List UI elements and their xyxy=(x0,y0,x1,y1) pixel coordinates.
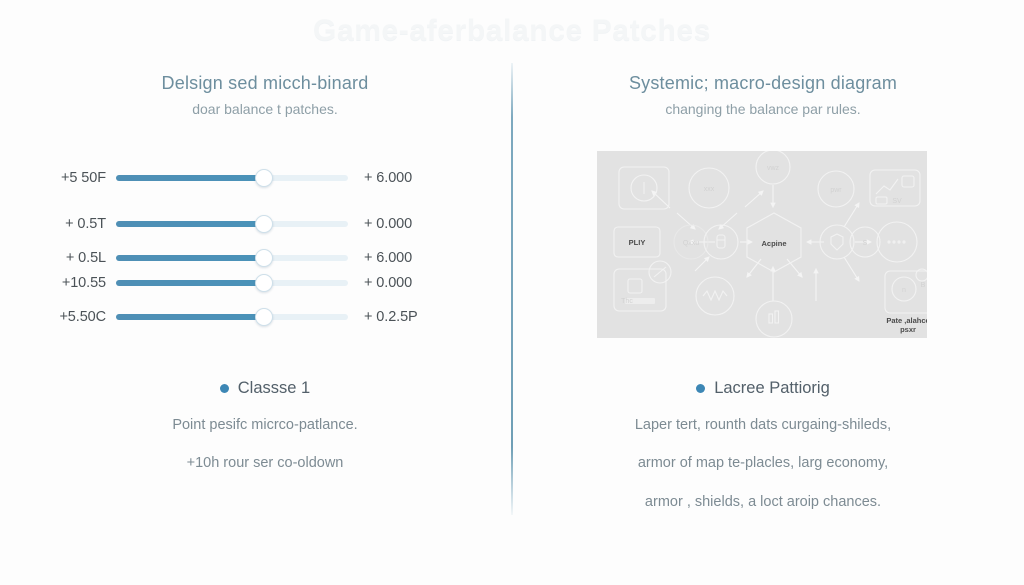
slider-fill xyxy=(116,314,264,320)
right-column-subheading: changing the balance par rules. xyxy=(524,101,1002,117)
slider-label: +5 50F xyxy=(30,170,116,186)
left-column-heading: Delsign sed micch-binard xyxy=(30,73,500,94)
slider-thumb[interactable] xyxy=(255,215,273,233)
slider-label: +5.50C xyxy=(30,309,116,325)
wave-circle-node[interactable] xyxy=(696,277,734,315)
top-circle-node[interactable]: xxx xyxy=(689,168,729,208)
power-icon-node[interactable] xyxy=(619,167,669,209)
right-bullet-line: armor of map te-placles, larg economy, xyxy=(524,452,1002,474)
slider-row[interactable]: +10.55 + 0.000 xyxy=(30,273,500,293)
svg-text:Qxxu: Qxxu xyxy=(683,240,699,247)
svg-text:vwz: vwz xyxy=(767,165,780,172)
center-hexagon-node[interactable]: Acpine xyxy=(747,213,801,272)
svg-text:B: B xyxy=(921,282,926,289)
shield-circle-node[interactable] xyxy=(820,225,854,259)
svg-text:xxx: xxx xyxy=(704,186,715,193)
patch-balance-card-label-line1: Pate ,alahcc xyxy=(886,316,927,325)
slider-fill xyxy=(116,221,264,227)
svg-text:Thc: Thc xyxy=(621,298,633,305)
chart-circle-node[interactable] xyxy=(756,301,792,337)
stats-card-node[interactable]: SV xyxy=(870,170,920,206)
right-bullet-block: Lacree Pattiorig Laper tert, rounth dats… xyxy=(524,379,1002,513)
left-bullet-block: Classse 1 Point pesifc micrco-patlance. … xyxy=(30,379,500,475)
slider-thumb[interactable] xyxy=(255,169,273,187)
slider-list: +5 50F + 6.000 + 0.5T + 0.000 + 0.5L xyxy=(30,168,500,327)
slider-row[interactable]: +5.50C + 0.2.5P xyxy=(30,307,500,327)
left-column-subheading: doar balance t patches. xyxy=(30,101,500,117)
slider-row[interactable]: +5 50F + 6.000 xyxy=(30,168,500,188)
patch-balance-card-label-line2: psxr xyxy=(900,325,916,334)
bullet-dot-icon xyxy=(220,384,229,393)
slider-track-wrap[interactable] xyxy=(116,308,348,326)
right-top-circle-node[interactable]: pwr xyxy=(818,171,854,207)
slider-track-wrap[interactable] xyxy=(116,169,348,187)
left-column: Delsign sed micch-binard doar balance t … xyxy=(30,0,500,585)
slider-thumb[interactable] xyxy=(255,274,273,292)
right-column: Systemic; macro-design diagram changing … xyxy=(524,0,1002,585)
right-bullet-title-text: Lacree Pattiorig xyxy=(714,379,830,398)
left-bullet-line: Point pesifc micrco-patlance. xyxy=(30,414,500,436)
left-bullet-title-text: Classse 1 xyxy=(238,379,310,398)
left-bullet-title: Classse 1 xyxy=(220,379,310,398)
slider-label: +10.55 xyxy=(30,275,116,291)
column-divider xyxy=(511,63,513,515)
slider-value: + 0.000 xyxy=(348,275,450,291)
slider-track-wrap[interactable] xyxy=(116,215,348,233)
slider-value: + 0.000 xyxy=(348,216,450,232)
upper-right-circle-node[interactable]: vwz xyxy=(756,151,790,184)
slider-track-wrap[interactable] xyxy=(116,249,348,267)
svg-text:S: S xyxy=(863,240,868,247)
right-bullet-title: Lacree Pattiorig xyxy=(696,379,830,398)
document-card-node[interactable]: Thc xyxy=(614,261,671,311)
center-node-label: Acpine xyxy=(761,239,786,248)
svg-text:pwr: pwr xyxy=(830,187,842,194)
slider-thumb[interactable] xyxy=(255,249,273,267)
slider-thumb[interactable] xyxy=(255,308,273,326)
svg-text:SV: SV xyxy=(892,198,902,205)
slider-row[interactable]: + 0.5T + 0.000 xyxy=(30,214,500,234)
slider-value: + 6.000 xyxy=(348,170,450,186)
play-button-label: PLIY xyxy=(629,238,646,247)
patch-balance-card-node[interactable]: n B Pate ,alahcc psxr xyxy=(885,269,927,334)
right-bullet-line: armor , shields, a loct aroip chances. xyxy=(524,491,1002,513)
diagram-svg: xxx vwz pwr PLIY Qxxu xyxy=(597,151,927,338)
slider-label: + 0.5T xyxy=(30,216,116,232)
slider-value: + 6.000 xyxy=(348,250,450,266)
right-column-heading: Systemic; macro-design diagram xyxy=(524,73,1002,94)
slider-value: + 0.2.5P xyxy=(348,309,450,325)
play-button-node[interactable]: PLIY xyxy=(614,227,660,257)
svg-text:n: n xyxy=(902,287,906,294)
slider-label: + 0.5L xyxy=(30,250,116,266)
slider-fill xyxy=(116,255,264,261)
left-bullet-line: +10h rour ser co-oldown xyxy=(30,452,500,474)
bullet-dot-icon xyxy=(696,384,705,393)
dots-circle-node[interactable] xyxy=(877,222,917,262)
right-bullet-line: Laper tert, rounth dats curgaing-shileds… xyxy=(524,414,1002,436)
slider-track-wrap[interactable] xyxy=(116,274,348,292)
slider-fill xyxy=(116,175,264,181)
macro-design-diagram-panel[interactable]: xxx vwz pwr PLIY Qxxu xyxy=(597,151,927,338)
slider-row[interactable]: + 0.5L + 6.000 xyxy=(30,248,500,268)
slider-fill xyxy=(116,280,264,286)
